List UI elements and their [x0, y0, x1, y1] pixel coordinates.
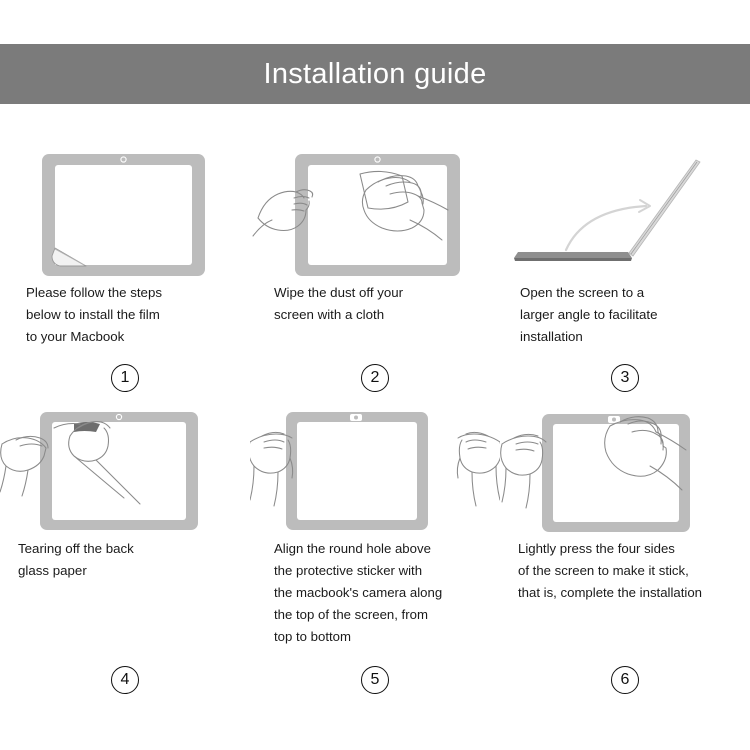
step-number-badge-6: 6 — [611, 666, 639, 694]
step-card-6: Lightly press the four sides of the scre… — [500, 400, 750, 702]
step-card-2: Wipe the dust off your screen with a clo… — [250, 140, 500, 400]
page-title: Installation guide — [263, 60, 486, 89]
caption-line: Open the screen to a — [520, 282, 728, 304]
caption-line: of the screen to make it stick, — [518, 560, 744, 582]
caption-line: that is, complete the installation — [518, 582, 744, 604]
step-card-1: Please follow the steps below to install… — [0, 140, 250, 400]
step-card-5: Align the round hole above the protectiv… — [250, 400, 500, 702]
steps-row-bottom: Tearing off the back glass paper 4 — [0, 400, 750, 702]
step-1-illustration — [0, 140, 250, 282]
step-5-badge-slot: 5 — [250, 658, 500, 702]
step-5-caption: Align the round hole above the protectiv… — [250, 538, 500, 652]
caption-line: to your Macbook — [26, 326, 228, 348]
step-6-caption: Lightly press the four sides of the scre… — [500, 538, 750, 652]
step-number-badge-3: 3 — [611, 364, 639, 392]
caption-line: Wipe the dust off your — [274, 282, 478, 304]
steps-row-top: Please follow the steps below to install… — [0, 140, 750, 400]
step-6-illustration — [500, 400, 750, 538]
step-2-illustration — [250, 140, 500, 282]
steps-grid: Please follow the steps below to install… — [0, 140, 750, 702]
caption-line: the top of the screen, from — [274, 604, 494, 626]
caption-line: installation — [520, 326, 728, 348]
caption-line: larger angle to facilitate — [520, 304, 728, 326]
step-card-3: Open the screen to a larger angle to fac… — [500, 140, 750, 400]
step-card-4: Tearing off the back glass paper 4 — [0, 400, 250, 702]
step-3-illustration — [500, 140, 750, 282]
step-1-badge-slot: 1 — [0, 356, 250, 400]
caption-line: the protective sticker with — [274, 560, 494, 582]
caption-line: top to bottom — [274, 626, 494, 648]
step-3-badge-slot: 3 — [500, 356, 750, 400]
step-number-badge-5: 5 — [361, 666, 389, 694]
step-number-badge-1: 1 — [111, 364, 139, 392]
step-4-illustration — [0, 400, 250, 538]
step-number-badge-4: 4 — [111, 666, 139, 694]
step-2-badge-slot: 2 — [250, 356, 500, 400]
caption-line: Lightly press the four sides — [518, 538, 744, 560]
step-5-illustration — [250, 400, 500, 538]
step-3-caption: Open the screen to a larger angle to fac… — [500, 282, 750, 352]
step-2-caption: Wipe the dust off your screen with a clo… — [250, 282, 500, 352]
step-1-caption: Please follow the steps below to install… — [0, 282, 250, 352]
step-number-badge-2: 2 — [361, 364, 389, 392]
step-4-caption: Tearing off the back glass paper — [0, 538, 250, 652]
caption-line: the macbook's camera along — [274, 582, 494, 604]
header-banner: Installation guide — [0, 44, 750, 104]
caption-line: screen with a cloth — [274, 304, 478, 326]
step-4-badge-slot: 4 — [0, 658, 250, 702]
caption-line: Align the round hole above — [274, 538, 494, 560]
caption-line: Please follow the steps — [26, 282, 228, 304]
step-6-badge-slot: 6 — [500, 658, 750, 702]
caption-line: below to install the film — [26, 304, 228, 326]
caption-line: glass paper — [18, 560, 228, 582]
caption-line: Tearing off the back — [18, 538, 228, 560]
